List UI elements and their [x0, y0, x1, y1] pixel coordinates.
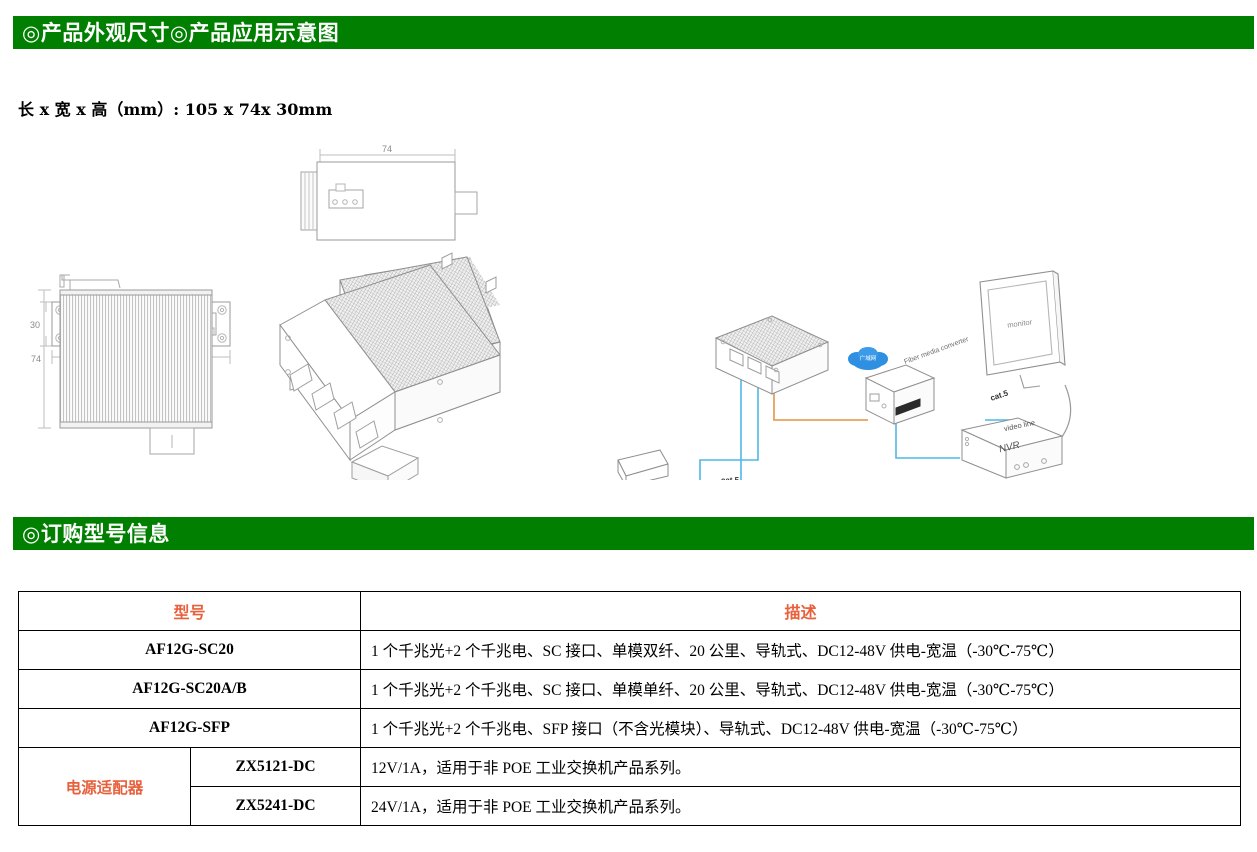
column-header-model: 型号	[19, 592, 361, 631]
table-row: AF12G-SC20A/B 1 个千兆光+2 个千兆电、SC 接口、单模单纤、2…	[19, 670, 1241, 709]
ordering-info-table: 型号 描述 AF12G-SC20 1 个千兆光+2 个千兆电、SC 接口、单模双…	[18, 591, 1241, 826]
table-row-adapter: 电源适配器 ZX5121-DC 12V/1A，适用于非 POE 工业交换机产品系…	[19, 748, 1241, 787]
top-view-drawing	[301, 149, 477, 240]
adapter-model: ZX5121-DC	[191, 748, 361, 787]
adapter-model: ZX5241-DC	[191, 787, 361, 826]
wan-cloud-label: 广域网	[860, 354, 877, 362]
cat5-cable-right	[896, 423, 960, 458]
section-header-ordering: ◎订购型号信息	[13, 517, 1254, 550]
cat5-label-right: cat.5	[989, 388, 1010, 402]
application-diagram: 广域网 Fiber media converter monitor	[610, 271, 1070, 480]
table-row: AF12G-SC20 1 个千兆光+2 个千兆电、SC 接口、单模双纤、20 公…	[19, 631, 1241, 670]
table-row: AF12G-SFP 1 个千兆光+2 个千兆电、SFP 接口（不含光模块）、导轨…	[19, 709, 1241, 748]
fiber-media-converter	[866, 365, 934, 424]
model-name: AF12G-SC20A/B	[19, 670, 361, 709]
model-name: AF12G-SFP	[19, 709, 361, 748]
wan-cloud-icon: 广域网	[848, 347, 888, 370]
diagram-monitor	[980, 271, 1065, 388]
model-description: 1 个千兆光+2 个千兆电、SC 接口、单模双纤、20 公里、导轨式、DC12-…	[361, 631, 1241, 670]
section-header-dimensions: ◎产品外观尺寸◎产品应用示意图	[13, 16, 1254, 49]
front-view-height-label: 30	[30, 320, 40, 330]
top-view-width-label: 74	[382, 144, 392, 154]
table-row-adapter: ZX5241-DC 24V/1A，适用于非 POE 工业交换机产品系列。	[19, 787, 1241, 826]
column-header-description: 描述	[361, 592, 1241, 631]
diagram-switch	[716, 316, 828, 394]
model-name: AF12G-SC20	[19, 631, 361, 670]
side-view-drawing	[38, 275, 212, 454]
adapter-description: 12V/1A，适用于非 POE 工业交换机产品系列。	[361, 748, 1241, 787]
adapter-description: 24V/1A，适用于非 POE 工业交换机产品系列。	[361, 787, 1241, 826]
fiber-cable	[774, 392, 868, 420]
side-view-height-label: 74	[31, 354, 41, 364]
cat5-label-left: cat.5	[721, 476, 740, 480]
table-header-row: 型号 描述	[19, 592, 1241, 631]
model-description: 1 个千兆光+2 个千兆电、SC 接口、单模单纤、20 公里、导轨式、DC12-…	[361, 670, 1241, 709]
drawings-area: 30 105 74 74	[0, 130, 1257, 480]
cat5-cable-left	[668, 375, 758, 480]
model-description: 1 个千兆光+2 个千兆电、SFP 接口（不含光模块）、导轨式、DC12-48V…	[361, 709, 1241, 748]
fiber-converter-label: Fiber media converter	[903, 336, 970, 366]
poe-ip-camera-bullet	[618, 450, 668, 480]
dimension-caption: 长 x 宽 x 高（mm）: 105 x 74x 30mm	[18, 96, 332, 120]
adapter-group-label: 电源适配器	[19, 748, 191, 826]
